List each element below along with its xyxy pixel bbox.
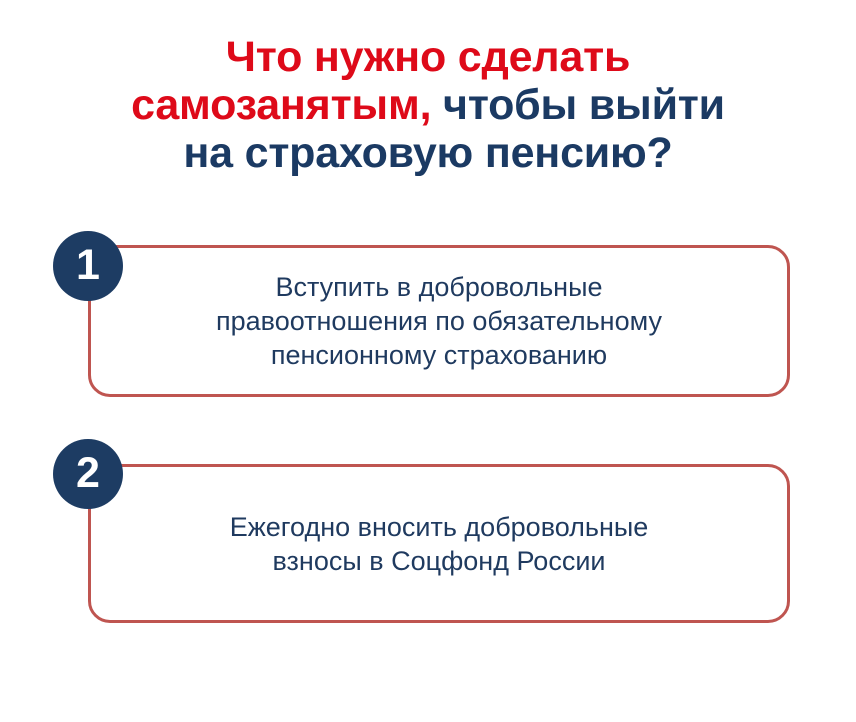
step-card-1: Вступить в добровольные правоотношения п… xyxy=(88,245,790,397)
title-segment-navy-3: на страховую пенсию? xyxy=(183,129,672,177)
step-number-label-1: 1 xyxy=(76,244,100,287)
title-line-3: на страховую пенсию? xyxy=(0,129,856,177)
title-line-1: Что нужно сделать xyxy=(0,33,856,81)
step-number-badge-2: 2 xyxy=(53,439,123,509)
step-number-badge-1: 1 xyxy=(53,231,123,301)
step-number-label-2: 2 xyxy=(76,452,100,495)
title-line-2: самозанятым, чтобы выйти xyxy=(0,81,856,129)
step-text-2: Ежегодно вносить добровольные взносы в С… xyxy=(204,510,675,578)
step-text-1: Вступить в добровольные правоотношения п… xyxy=(190,270,688,372)
title-segment-red-2: самозанятым, xyxy=(131,81,431,129)
infographic-poster: Что нужно сделать самозанятым, чтобы вый… xyxy=(0,0,856,722)
title-segment-red-1: Что нужно сделать xyxy=(226,33,630,81)
page-title: Что нужно сделать самозанятым, чтобы вый… xyxy=(0,33,856,177)
title-segment-navy-2: чтобы выйти xyxy=(431,81,725,129)
step-card-2: Ежегодно вносить добровольные взносы в С… xyxy=(88,464,790,623)
